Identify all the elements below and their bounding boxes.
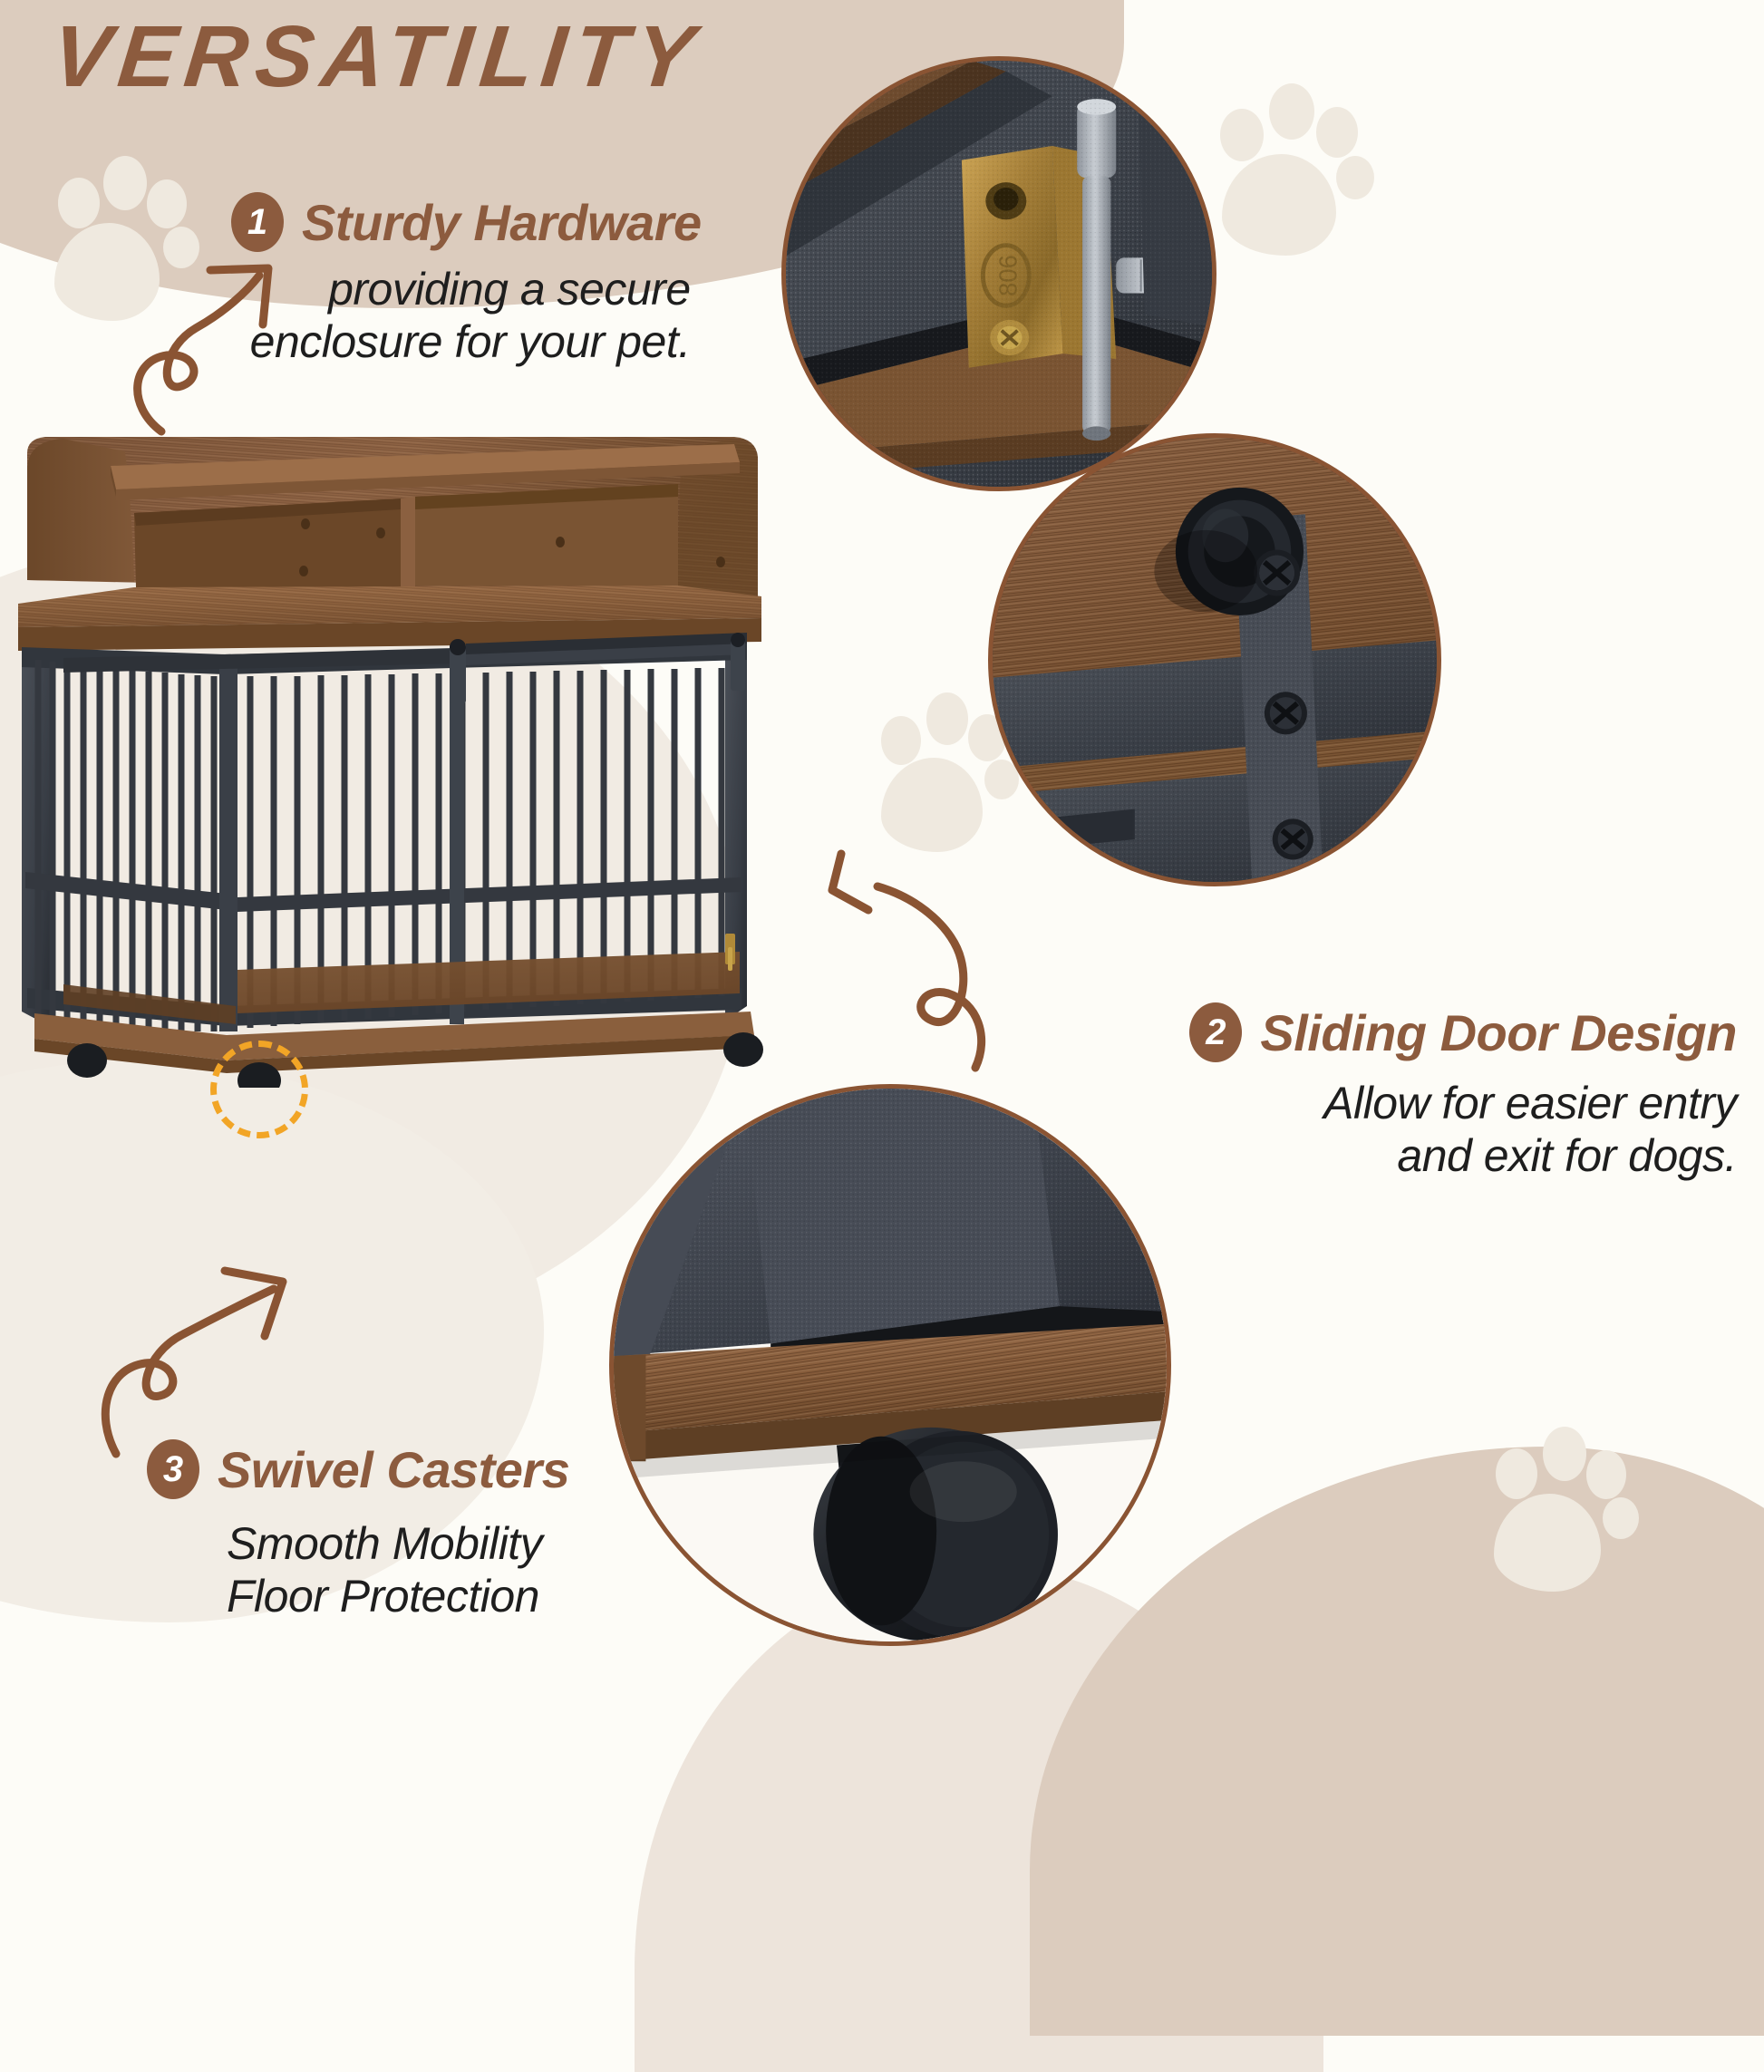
feature-heading: Sturdy Hardware [302,193,702,252]
detail-photo-swivel-caster [609,1084,1171,1646]
feature-body: Smooth Mobility Floor Protection [147,1517,569,1622]
sliding-door-roller-photo [993,438,1437,882]
curved-arrow-to-sturdy-hardware [109,234,317,442]
infographic-canvas: VERSATILITY [0,0,1764,1764]
dog-crate-illustration [9,426,798,1088]
swivel-caster-photo [614,1089,1167,1641]
feature-body-line: Floor Protection [227,1570,569,1622]
curved-arrow-to-swivel-caster [96,1258,314,1467]
feature-block-swivel-casters: 3 Swivel Casters Smooth Mobility Floor P… [147,1439,569,1622]
feature-body-line: and exit for dogs. [1189,1129,1737,1182]
feature-body-line: Allow for easier entry [1189,1077,1737,1129]
detail-photo-sliding-door [988,433,1441,886]
detail-photo-sturdy-hardware: 806 [781,56,1216,491]
feature-heading-row: 2 Sliding Door Design [1189,1002,1737,1062]
feature-number-badge: 2 [1189,1002,1242,1062]
page-title: VERSATILITY [47,7,706,107]
paw-print-icon [1207,71,1398,261]
brass-hinge-latch-photo: 806 [786,61,1212,487]
feature-body: Allow for easier entry and exit for dogs… [1189,1077,1737,1182]
feature-block-sliding-door: 2 Sliding Door Design Allow for easier e… [1189,1002,1737,1182]
paw-print-icon [1485,1414,1662,1595]
feature-heading: Sliding Door Design [1260,1003,1737,1062]
product-image-dog-crate [9,426,798,1088]
caster-highlight-ring [210,1041,308,1138]
curved-arrow-to-sliding-door [816,843,1024,1079]
feature-body-line: Smooth Mobility [227,1517,569,1570]
